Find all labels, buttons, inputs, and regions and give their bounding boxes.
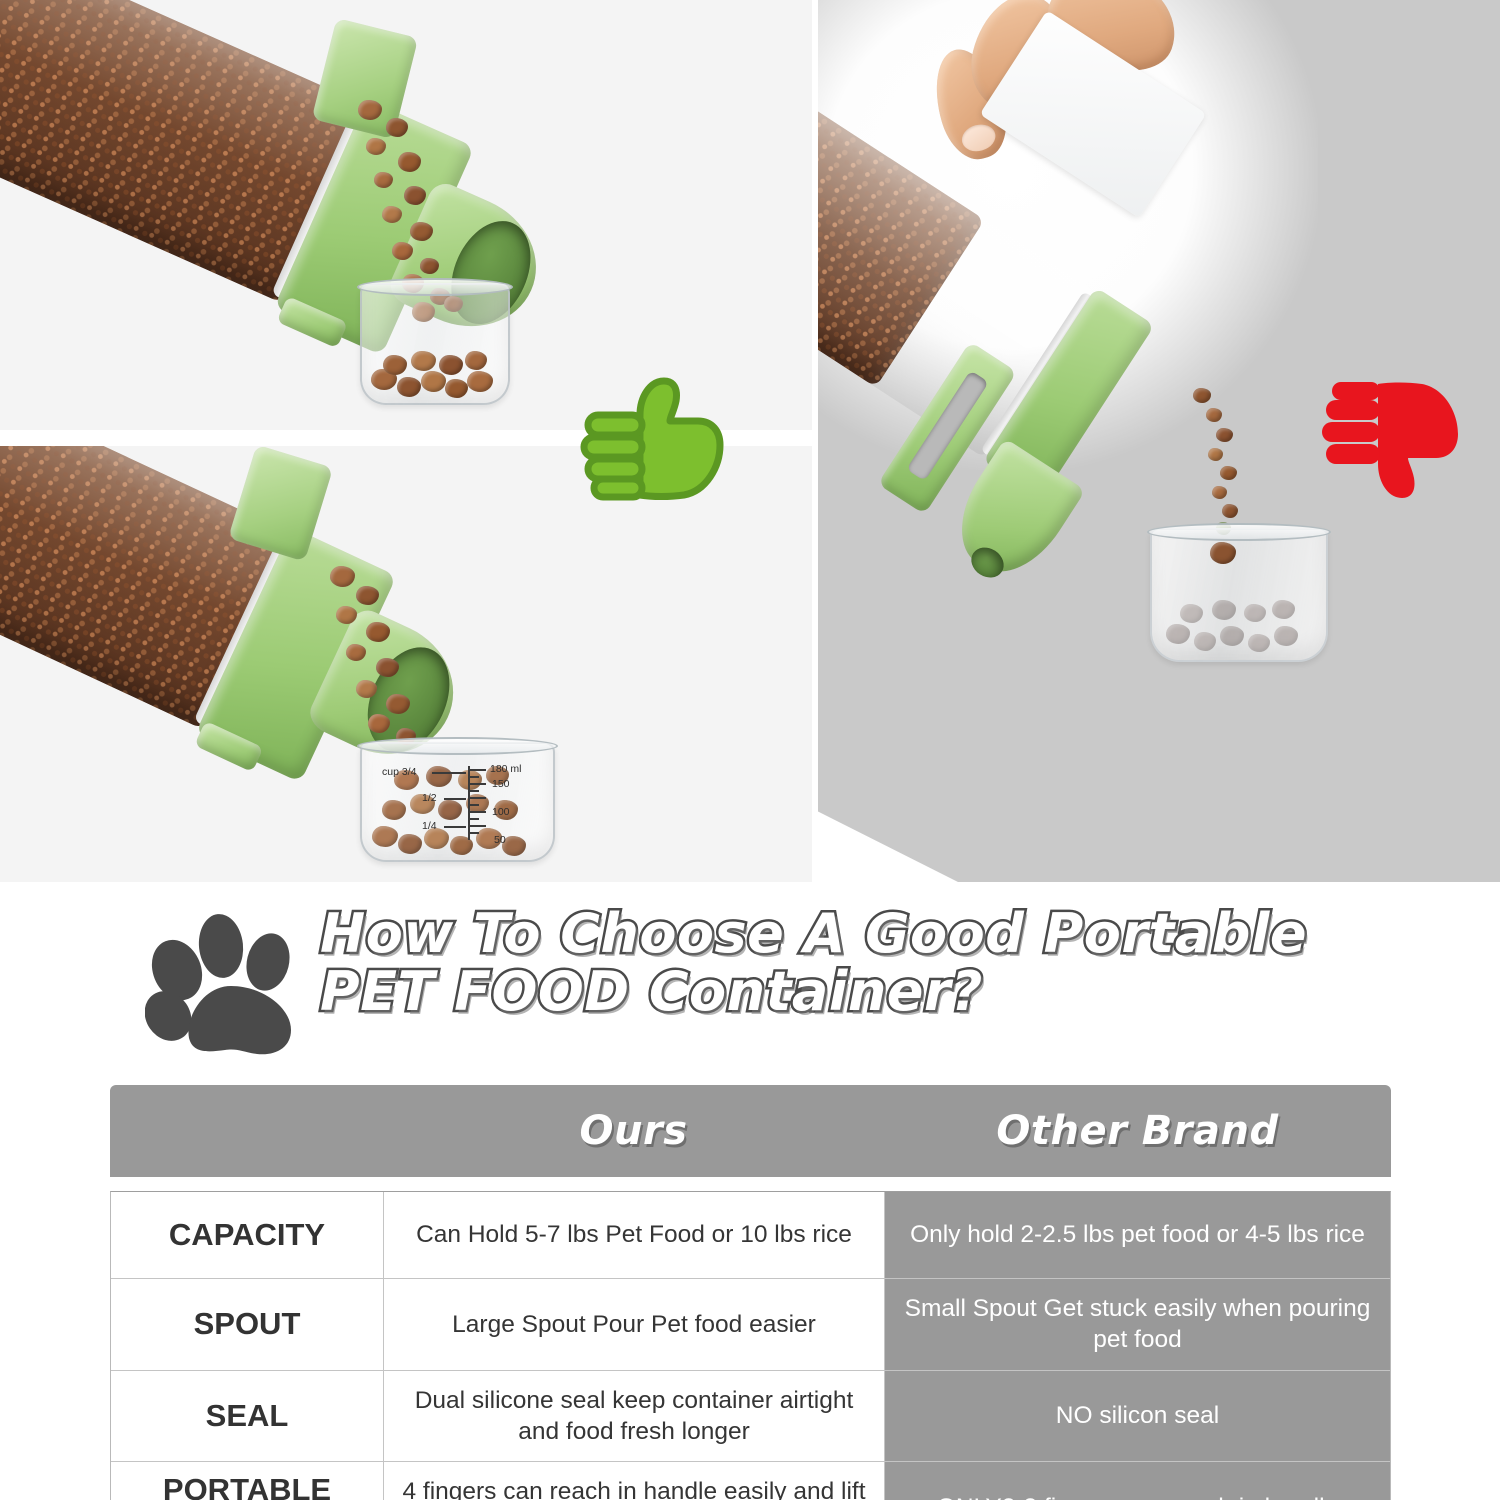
thumbs-up-icon [578,375,726,503]
cup-label-half: 1/2 [422,792,437,804]
table-header-row: Ours Other Brand [110,1085,1391,1177]
cell-other-portable-handle: ONLY2-3 fingers can reach in handle [885,1462,1390,1500]
cell-ours-portable-handle: 4 fingers can reach in handle easily and… [384,1462,885,1500]
cell-ours-spout: Large Spout Pour Pet food easier [384,1279,885,1370]
row-feature-seal: SEAL [111,1371,384,1462]
fingernail [959,121,999,155]
infographic-page: cup 3/4 1/2 1/4 180 ml 150 100 [0,0,1500,1500]
table-row: CAPACITY Can Hold 5-7 lbs Pet Food or 10… [111,1192,1390,1279]
cup-measurement-scale: cup 3/4 1/2 1/4 180 ml 150 100 [360,742,555,862]
table-row: SEAL Dual silicone seal keep container a… [111,1371,1390,1463]
photo-ours-pouring-cup: cup 3/4 1/2 1/4 180 ml 150 100 [0,446,812,882]
cell-other-spout: Small Spout Get stuck easily when pourin… [885,1279,1390,1370]
measuring-cup-plain [360,283,510,405]
cup-kibble-fill-other [1160,594,1318,656]
photo-other-brand-pouring [818,0,1500,882]
table-header-gap [110,1177,1391,1191]
row-feature-portable-handle: PORTABLE HANDLE [111,1462,384,1500]
photo-section: cup 3/4 1/2 1/4 180 ml 150 100 [0,0,1500,882]
cup-kibble-fill [367,343,503,401]
cup-label-150: 150 [492,778,510,790]
cell-other-seal: NO silicon seal [885,1371,1390,1462]
table-body: CAPACITY Can Hold 5-7 lbs Pet Food or 10… [110,1191,1391,1500]
comparison-table: Ours Other Brand CAPACITY Can Hold 5-7 l… [110,1085,1391,1500]
table-row: SPOUT Large Spout Pour Pet food easier S… [111,1279,1390,1371]
header-other-brand: Other Brand [884,1085,1391,1177]
cup-label-quarter: 1/4 [422,820,437,832]
photo-ours-pouring-top [0,0,812,430]
cup-label-50: 50 [494,834,506,846]
cup-rim [357,278,513,296]
row-feature-capacity: CAPACITY [111,1192,384,1278]
thumbs-down-icon [1316,372,1466,504]
row-feature-spout: SPOUT [111,1279,384,1370]
table-row: PORTABLE HANDLE 4 fingers can reach in h… [111,1462,1390,1500]
cup-rim-other [1147,523,1331,541]
measuring-cup-with-scale: cup 3/4 1/2 1/4 180 ml 150 100 [360,742,555,862]
cup-label-180ml: 180 ml [490,763,522,775]
paw-print-icon [145,908,320,1058]
cup-label-three-quarter: cup 3/4 [382,766,416,778]
page-title: How To Choose A Good Portable PET FOOD C… [320,905,1440,1022]
cell-other-capacity: Only hold 2-2.5 lbs pet food or 4-5 lbs … [885,1192,1390,1278]
header-ours: Ours [383,1085,884,1177]
cell-ours-seal: Dual silicone seal keep container airtig… [384,1371,885,1462]
measuring-cup-other [1150,528,1328,662]
header-feature-blank [110,1085,383,1177]
cell-ours-capacity: Can Hold 5-7 lbs Pet Food or 10 lbs rice [384,1192,885,1278]
cup-label-100: 100 [492,806,510,818]
